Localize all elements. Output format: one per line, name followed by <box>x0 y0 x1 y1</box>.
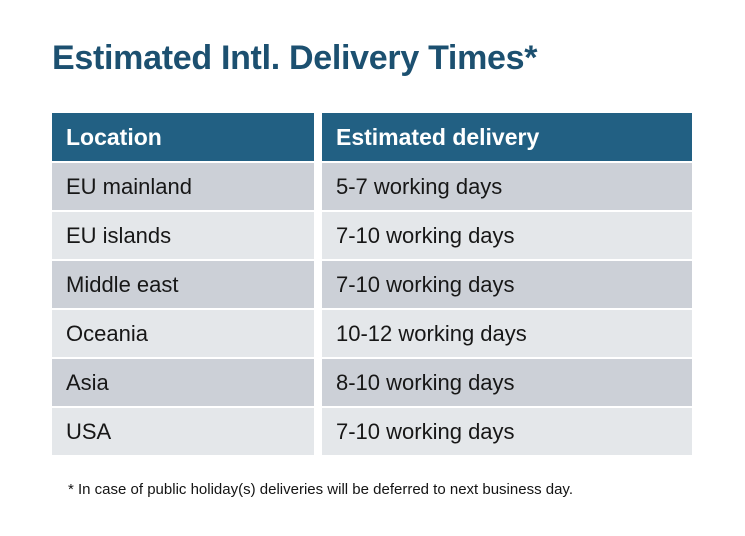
table-row: EU islands 7-10 working days <box>52 212 692 259</box>
estimated-delivery-table: Location Estimated delivery EU mainland … <box>52 113 692 457</box>
cell-location: Asia <box>52 359 314 406</box>
table-row: Oceania 10-12 working days <box>52 310 692 357</box>
column-gutter <box>314 261 322 308</box>
table-row: Middle east 7-10 working days <box>52 261 692 308</box>
table-row: EU mainland 5-7 working days <box>52 163 692 210</box>
cell-location: Middle east <box>52 261 314 308</box>
cell-estimated-delivery: 7-10 working days <box>322 212 692 259</box>
cell-estimated-delivery: 7-10 working days <box>322 261 692 308</box>
column-gutter <box>314 359 322 406</box>
table-row: Asia 8-10 working days <box>52 359 692 406</box>
cell-location: Oceania <box>52 310 314 357</box>
page-title: Estimated Intl. Delivery Times* <box>52 38 537 79</box>
cell-estimated-delivery: 8-10 working days <box>322 359 692 406</box>
cell-estimated-delivery: 10-12 working days <box>322 310 692 357</box>
footnote: * In case of public holiday(s) deliverie… <box>68 480 573 500</box>
column-gutter <box>314 408 322 455</box>
table-header-row: Location Estimated delivery <box>52 113 692 161</box>
cell-estimated-delivery: 5-7 working days <box>322 163 692 210</box>
cell-estimated-delivery: 7-10 working days <box>322 408 692 455</box>
delivery-times-document: Estimated Intl. Delivery Times* Location… <box>0 0 745 536</box>
column-gutter <box>314 163 322 210</box>
column-gutter <box>314 310 322 357</box>
cell-location: EU mainland <box>52 163 314 210</box>
column-header-location: Location <box>52 113 314 161</box>
cell-location: EU islands <box>52 212 314 259</box>
column-header-estimated-delivery: Estimated delivery <box>322 113 692 161</box>
column-gutter <box>314 113 322 161</box>
cell-location: USA <box>52 408 314 455</box>
table-row: USA 7-10 working days <box>52 408 692 455</box>
column-gutter <box>314 212 322 259</box>
